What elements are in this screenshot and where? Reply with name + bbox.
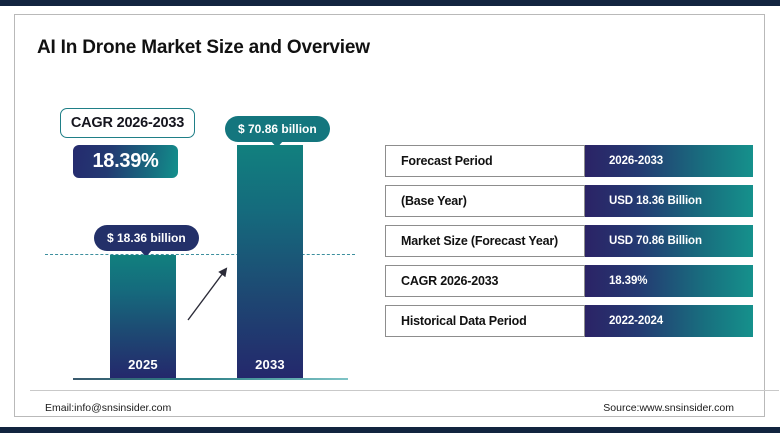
baseline-dashed-reference (45, 254, 355, 255)
chart-axis-line (73, 378, 348, 380)
footer-source: Source:www.snsinsider.com (603, 402, 734, 414)
top-edge-strip (0, 0, 780, 6)
bar-chart: $ 70.86 billion $ 18.36 billion 2025 203… (15, 15, 375, 418)
bar-2025-label: 2025 (110, 357, 176, 372)
table-row-value-cell: USD 18.36 Billion (585, 185, 753, 217)
bar-callout-2025: $ 18.36 billion (94, 225, 199, 251)
table-row-label-cell: Historical Data Period (385, 305, 585, 337)
table-row-value: USD 18.36 Billion (609, 195, 702, 207)
table-row-value-cell: USD 70.86 Billion (585, 225, 753, 257)
infographic-page: AI In Drone Market Size and Overview CAG… (0, 0, 780, 433)
table-row-label-cell: Forecast Period (385, 145, 585, 177)
footer-email: Email:info@snsinsider.com (45, 402, 171, 414)
bar-callout-2033-text: $ 70.86 billion (238, 122, 317, 136)
table-row-label-cell: (Base Year) (385, 185, 585, 217)
table-row-value: 18.39% (609, 275, 647, 287)
table-row: Forecast Period 2026-2033 (385, 145, 753, 177)
table-row-value: USD 70.86 Billion (609, 235, 702, 247)
bar-callout-2025-text: $ 18.36 billion (107, 231, 186, 245)
table-row-label-cell: CAGR 2026-2033 (385, 265, 585, 297)
table-row-value-cell: 2022-2024 (585, 305, 753, 337)
table-row-value-cell: 18.39% (585, 265, 753, 297)
bar-2033: 2033 (237, 145, 303, 378)
table-row-value: 2022-2024 (609, 315, 663, 327)
table-row: CAGR 2026-2033 18.39% (385, 265, 753, 297)
growth-arrow-icon (180, 260, 240, 328)
footer-divider (30, 390, 779, 391)
content-card: AI In Drone Market Size and Overview CAG… (14, 14, 765, 417)
table-row-label-cell: Market Size (Forecast Year) (385, 225, 585, 257)
bar-2033-fill (237, 145, 303, 378)
table-row-label: Market Size (Forecast Year) (401, 234, 558, 248)
bar-callout-2033: $ 70.86 billion (225, 116, 330, 142)
table-row: Market Size (Forecast Year) USD 70.86 Bi… (385, 225, 753, 257)
table-row: (Base Year) USD 18.36 Billion (385, 185, 753, 217)
table-row-value: 2026-2033 (609, 155, 663, 167)
table-row-value-cell: 2026-2033 (585, 145, 753, 177)
bar-2025: 2025 (110, 255, 176, 378)
table-row-label: (Base Year) (401, 194, 467, 208)
bottom-edge-strip (0, 427, 780, 433)
summary-table: Forecast Period 2026-2033 (Base Year) US… (385, 145, 753, 345)
table-row: Historical Data Period 2022-2024 (385, 305, 753, 337)
table-row-label: CAGR 2026-2033 (401, 274, 498, 288)
table-row-label: Forecast Period (401, 154, 492, 168)
bar-2033-label: 2033 (237, 357, 303, 372)
table-row-label: Historical Data Period (401, 314, 527, 328)
